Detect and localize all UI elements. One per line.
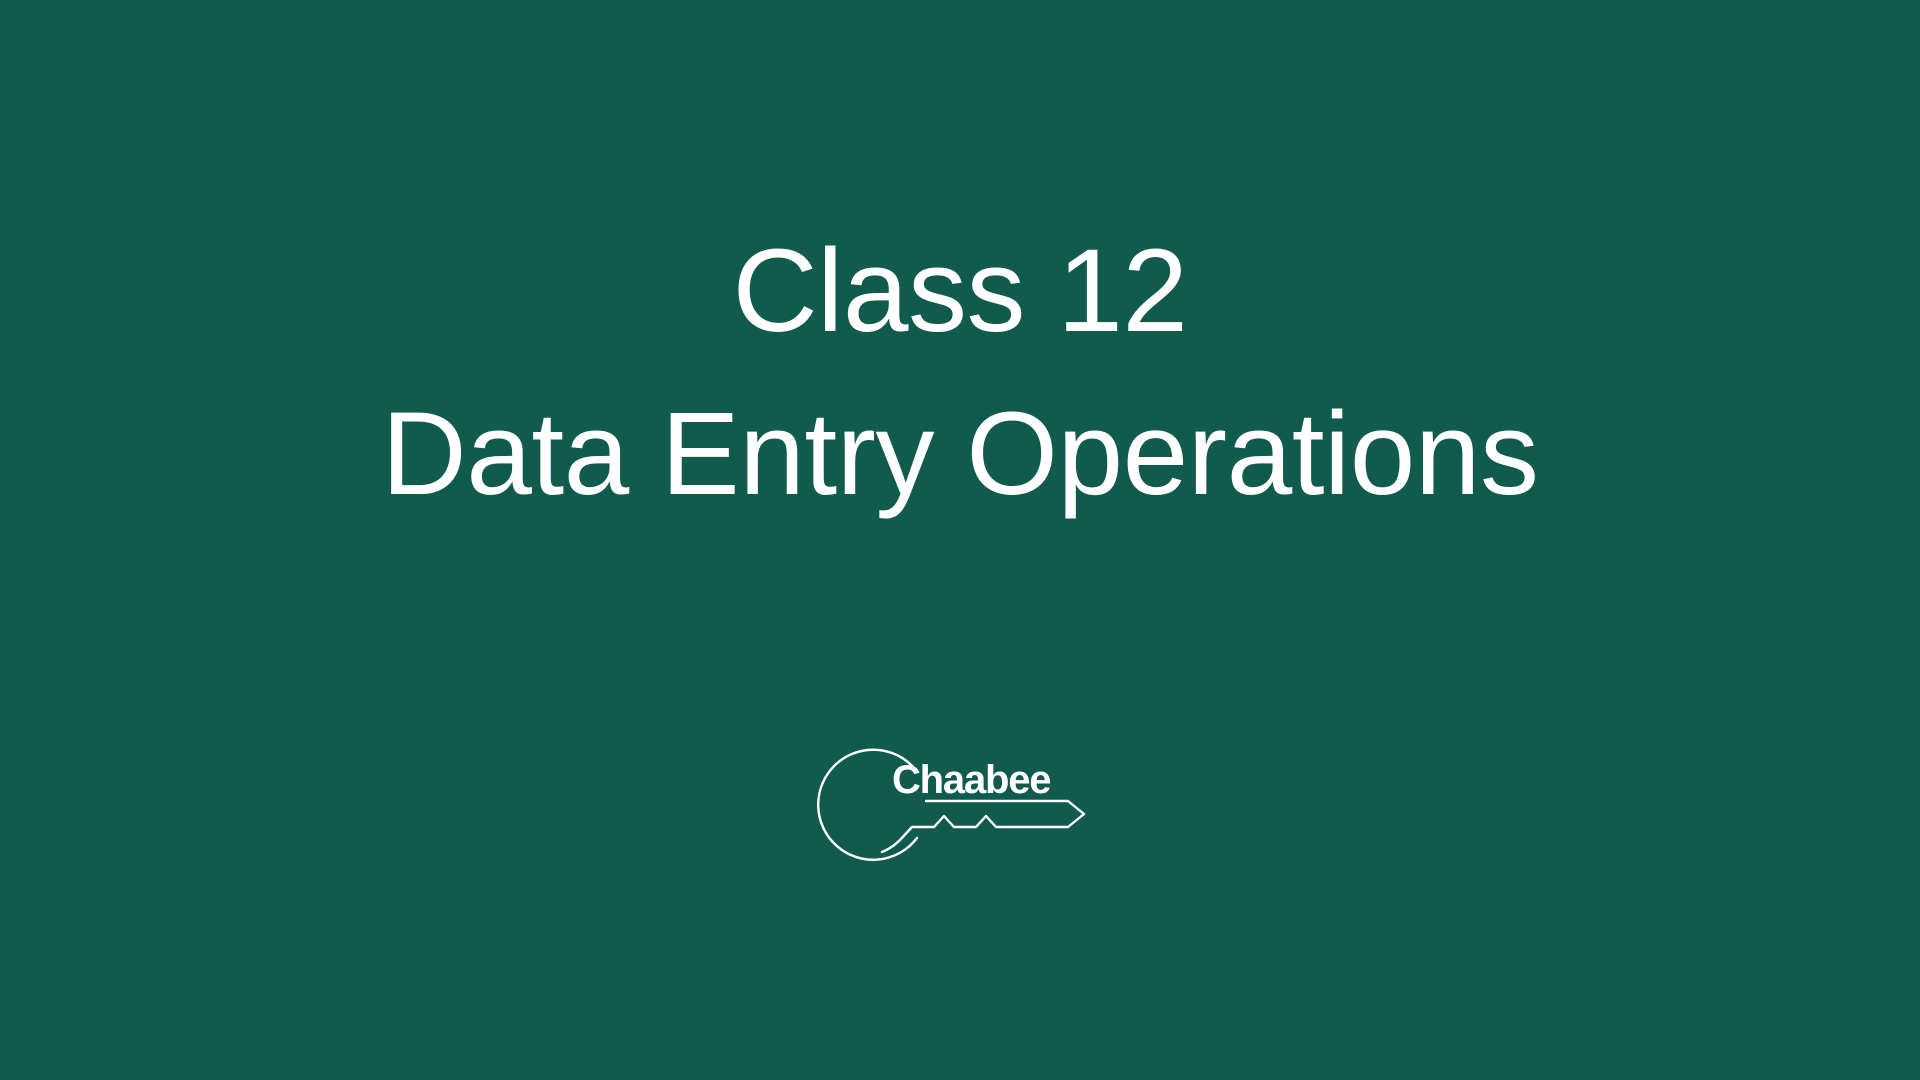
logo-wordmark: Chaabee <box>892 760 1050 800</box>
title-line-class: Class 12 <box>0 210 1920 373</box>
key-outline-icon <box>800 728 1120 878</box>
page-title: Class 12 Data Entry Operations <box>0 210 1920 536</box>
title-line-subject: Data Entry Operations <box>0 373 1920 536</box>
chaabee-logo: Chaabee <box>800 728 1120 878</box>
slide-canvas: Class 12 Data Entry Operations Chaabee <box>0 0 1920 1080</box>
